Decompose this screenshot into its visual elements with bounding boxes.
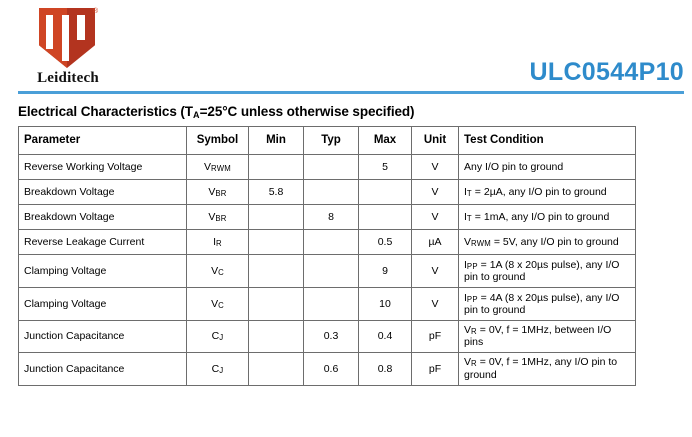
column-header-parameter: Parameter [19,127,187,155]
cell-symbol: CJ [187,352,249,385]
cell-max: 0.5 [359,230,412,255]
cell-unit: µA [412,230,459,255]
shield-notch-left [46,15,53,49]
cell-unit: V [412,180,459,205]
section-title-prefix: Electrical Characteristics (T [18,104,193,119]
cell-symbol: VBR [187,205,249,230]
cell-parameter: Junction Capacitance [19,352,187,385]
part-number-title: ULC0544P10 [530,58,684,87]
cell-min [249,230,304,255]
cell-typ [304,180,359,205]
cell-test-condition: VR = 0V, f = 1MHz, between I/O pins [459,321,636,353]
cell-test-condition: IPP = 1A (8 x 20µs pulse), any I/O pin t… [459,255,636,288]
cell-test-condition: VR = 0V, f = 1MHz, any I/O pin to ground [459,352,636,385]
cell-min [249,352,304,385]
column-header-unit: Unit [412,127,459,155]
column-header-max: Max [359,127,412,155]
column-header-symbol: Symbol [187,127,249,155]
column-header-test-condition: Test Condition [459,127,636,155]
table-row: Breakdown VoltageVBR5.8VIT = 2µA, any I/… [19,180,636,205]
cell-max: 10 [359,288,412,321]
cell-max: 9 [359,255,412,288]
cell-parameter: Breakdown Voltage [19,205,187,230]
cell-symbol: VC [187,255,249,288]
table-body: Reverse Working VoltageVRWM5VAny I/O pin… [19,155,636,386]
cell-parameter: Breakdown Voltage [19,180,187,205]
cell-parameter: Clamping Voltage [19,288,187,321]
electrical-characteristics-table: Parameter Symbol Min Typ Max Unit Test C… [18,126,636,386]
cell-max [359,205,412,230]
cell-parameter: Clamping Voltage [19,255,187,288]
table-row: Reverse Working VoltageVRWM5VAny I/O pin… [19,155,636,180]
cell-min [249,155,304,180]
cell-unit: V [412,288,459,321]
cell-parameter: Junction Capacitance [19,321,187,353]
cell-unit: pF [412,352,459,385]
table-row: Reverse Leakage CurrentIR0.5µAVRWM = 5V,… [19,230,636,255]
cell-test-condition: Any I/O pin to ground [459,155,636,180]
cell-test-condition: IT = 1mA, any I/O pin to ground [459,205,636,230]
registered-trademark-icon: ® [93,8,98,15]
cell-test-condition: IT = 2µA, any I/O pin to ground [459,180,636,205]
cell-unit: pF [412,321,459,353]
cell-typ [304,155,359,180]
column-header-typ: Typ [304,127,359,155]
cell-typ [304,230,359,255]
cell-max: 5 [359,155,412,180]
cell-min [249,288,304,321]
cell-test-condition: IPP = 4A (8 x 20µs pulse), any I/O pin t… [459,288,636,321]
cell-symbol: VRWM [187,155,249,180]
cell-max: 0.4 [359,321,412,353]
column-header-min: Min [249,127,304,155]
cell-min [249,205,304,230]
cell-typ: 0.3 [304,321,359,353]
table-row: Junction CapacitanceCJ0.60.8pFVR = 0V, f… [19,352,636,385]
cell-unit: V [412,155,459,180]
company-logo: ® Leiditech [18,4,118,94]
cell-max [359,180,412,205]
shield-icon: ® [31,6,105,72]
table-row: Clamping VoltageVC10VIPP = 4A (8 x 20µs … [19,288,636,321]
cell-symbol: CJ [187,321,249,353]
cell-min: 5.8 [249,180,304,205]
cell-symbol: IR [187,230,249,255]
table-row: Breakdown VoltageVBR8VIT = 1mA, any I/O … [19,205,636,230]
cell-typ: 0.6 [304,352,359,385]
table-row: Clamping VoltageVC9VIPP = 1A (8 x 20µs p… [19,255,636,288]
cell-typ [304,255,359,288]
shield-notch-middle [62,15,69,61]
cell-typ: 8 [304,205,359,230]
cell-test-condition: VRWM = 5V, any I/O pin to ground [459,230,636,255]
cell-max: 0.8 [359,352,412,385]
section-title-subscript: A [193,110,200,120]
cell-symbol: VC [187,288,249,321]
cell-min [249,321,304,353]
section-title: Electrical Characteristics (TA=25°C unle… [18,104,692,120]
page-header: ® Leiditech ULC0544P10 [0,0,692,96]
header-divider [18,91,684,94]
table-row: Junction CapacitanceCJ0.30.4pFVR = 0V, f… [19,321,636,353]
cell-symbol: VBR [187,180,249,205]
cell-min [249,255,304,288]
section-title-suffix: =25°C unless otherwise specified) [200,104,415,119]
shield-notch-right [77,15,85,40]
cell-parameter: Reverse Leakage Current [19,230,187,255]
table-header-row: Parameter Symbol Min Typ Max Unit Test C… [19,127,636,155]
cell-unit: V [412,205,459,230]
brand-name: Leiditech [18,70,118,87]
cell-unit: V [412,255,459,288]
cell-typ [304,288,359,321]
cell-parameter: Reverse Working Voltage [19,155,187,180]
